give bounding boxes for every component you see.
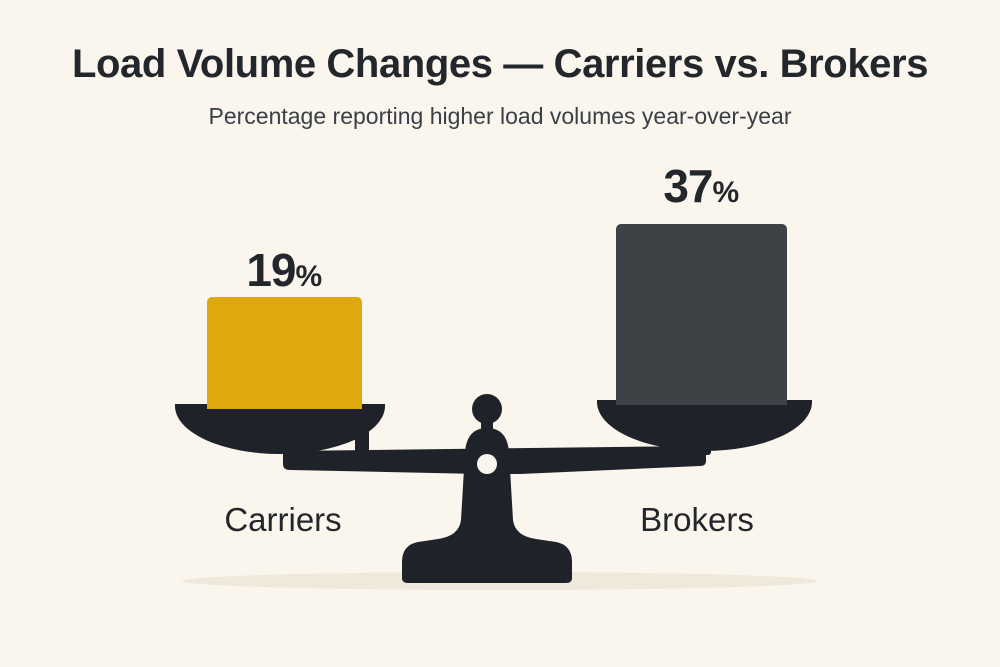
balance-scale-graphic: [0, 0, 1000, 667]
brokers-category-label: Brokers: [597, 503, 797, 536]
carriers-value-percent-sign: %: [295, 260, 321, 293]
carriers-value-number: 19: [246, 244, 295, 296]
carriers-value-label: 19%: [184, 247, 384, 293]
brokers-value-number: 37: [663, 160, 712, 212]
left-pan: [175, 404, 385, 454]
infographic-canvas: Load Volume Changes — Carriers vs. Broke…: [0, 0, 1000, 667]
brokers-weight-block: [616, 224, 787, 405]
carriers-category-label: Carriers: [183, 503, 383, 536]
chart-title: Load Volume Changes — Carriers vs. Broke…: [0, 42, 1000, 86]
carriers-weight-block: [207, 297, 362, 409]
chart-subtitle: Percentage reporting higher load volumes…: [0, 103, 1000, 131]
right-pan: [597, 400, 812, 451]
brokers-value-label: 37%: [601, 163, 801, 209]
brokers-value-percent-sign: %: [712, 176, 738, 209]
fulcrum-pivot-hole: [477, 454, 497, 474]
